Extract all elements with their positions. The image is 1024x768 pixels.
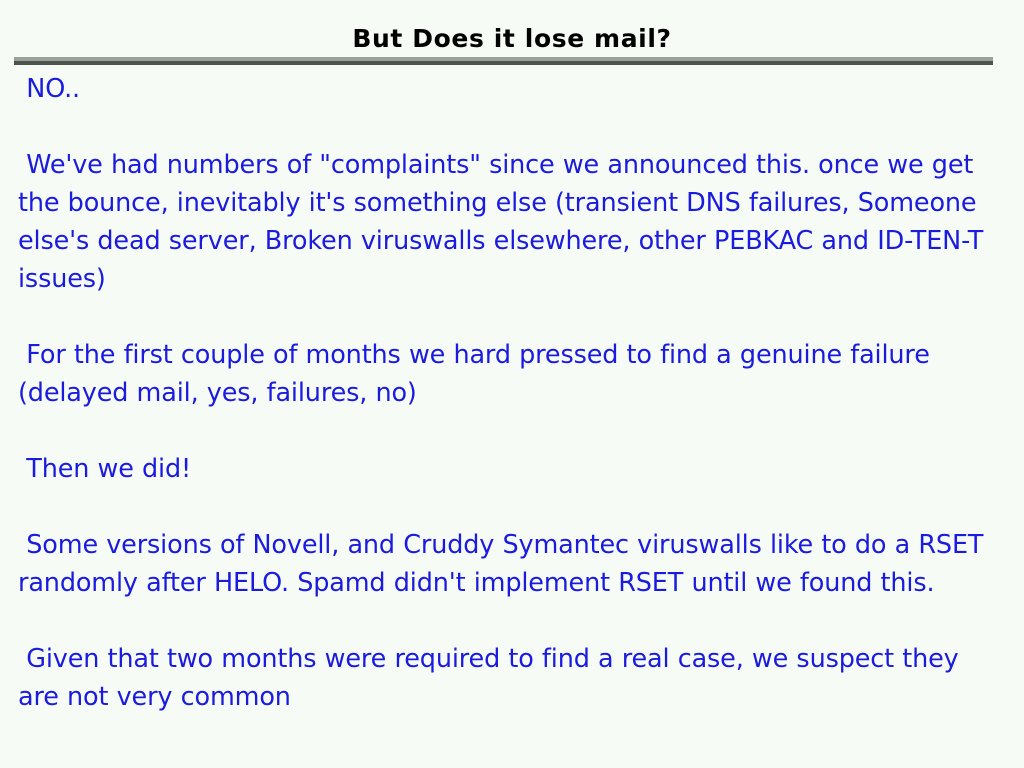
slide-title: But Does it lose mail? [0, 26, 1024, 52]
body-paragraph-3: For the first couple of months we hard p… [18, 336, 990, 412]
presentation-slide: But Does it lose mail? NO.. We've had nu… [0, 0, 1024, 768]
paragraph-spacer [18, 412, 990, 450]
paragraph-spacer [18, 488, 990, 526]
paragraph-spacer [18, 602, 990, 640]
paragraph-spacer [18, 298, 990, 336]
title-divider-rule [14, 57, 993, 65]
body-paragraph-4: Then we did! [18, 450, 990, 488]
body-paragraph-6: Given that two months were required to f… [18, 640, 990, 716]
paragraph-spacer [18, 108, 990, 146]
body-paragraph-2: We've had numbers of "complaints" since … [18, 146, 990, 298]
body-paragraph-1: NO.. [18, 70, 990, 108]
slide-body: NO.. We've had numbers of "complaints" s… [18, 70, 990, 716]
title-divider-shadow [14, 61, 993, 65]
body-paragraph-5: Some versions of Novell, and Cruddy Syma… [18, 526, 990, 602]
